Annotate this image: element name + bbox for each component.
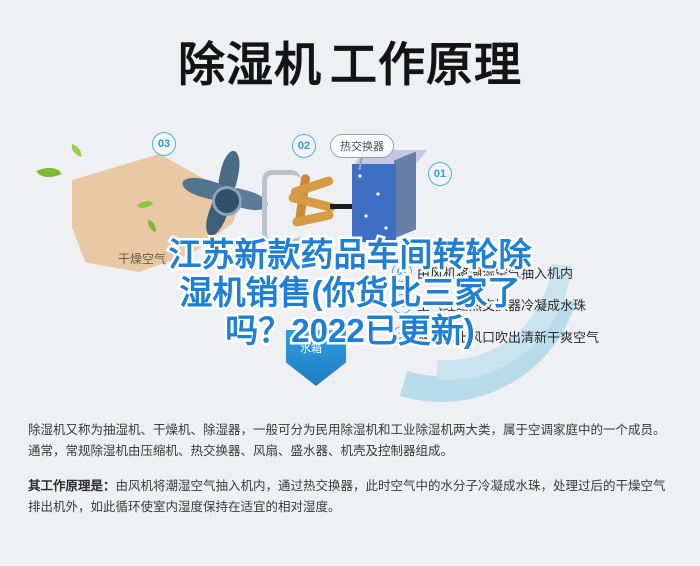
overlay-headline-line-2: 湿机销售(你货比三家了	[0, 274, 700, 312]
leaf-icon	[36, 162, 61, 183]
diagram-badge-02: 02	[292, 134, 316, 158]
body-paragraph-2: 其工作原理是：由风机将潮湿空气抽入机内，通过热交换器，此时空气中的水分子冷凝成水…	[28, 476, 676, 518]
overlay-headline-line-1: 江苏新款药品车间转轮除	[0, 236, 700, 274]
heat-exchanger-side	[394, 152, 416, 239]
diagram-badge-01: 01	[428, 162, 452, 186]
overlay-headline-line-3: 吗？2022已更新)	[0, 312, 700, 350]
page-title-text: 除湿机工作原理	[178, 41, 522, 88]
body-paragraph-2-rest: 由风机将潮湿空气抽入机内，通过热交换器，此时空气中的水分子冷凝成水珠，处理过后的…	[28, 479, 666, 514]
body-paragraph-2-lead: 其工作原理是：	[28, 479, 116, 493]
overlay-headline: 江苏新款药品车间转轮除 湿机销售(你货比三家了 吗？2022已更新)	[0, 236, 700, 350]
page-title: 除湿机工作原理	[0, 24, 700, 104]
heat-exchanger-icon	[352, 150, 420, 246]
coil-pipe	[262, 170, 301, 244]
body-paragraph-1: 除湿机又称为抽湿机、干燥机、除湿器，一般可分为民用除湿机和工业除湿机两大类，属于…	[28, 420, 676, 462]
compressor-coil-icon	[262, 168, 340, 242]
fan-hub	[212, 186, 242, 216]
diagram-badge-03: 03	[152, 132, 176, 156]
title-part-product: 除湿机	[178, 38, 322, 91]
leaf-icon	[69, 144, 84, 157]
fan-icon	[176, 144, 272, 240]
article-body: 除湿机又称为抽湿机、干燥机、除湿器，一般可分为民用除湿机和工业除湿机两大类，属于…	[28, 420, 676, 532]
heat-exchanger-callout: 热交换器	[330, 134, 394, 158]
title-part-principle: 工作原理	[330, 38, 522, 91]
heat-exchanger-face	[352, 164, 396, 242]
